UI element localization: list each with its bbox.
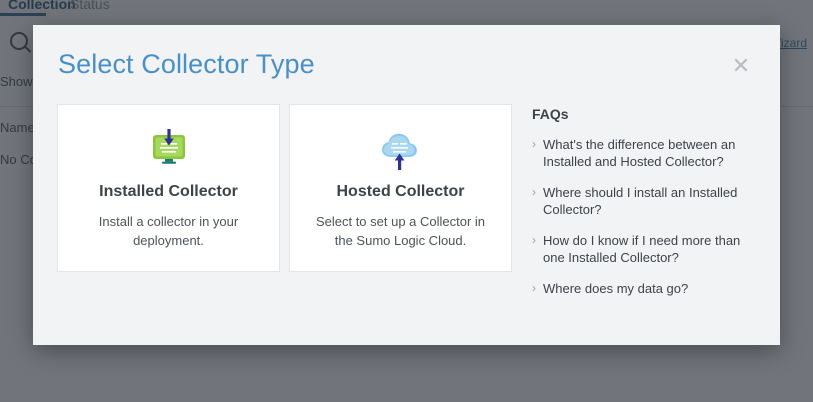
installed-collector-card[interactable]: Installed Collector Install a collector … [57, 104, 280, 272]
faq-panel: FAQs › What's the difference between an … [532, 104, 756, 311]
hosted-collector-description: Select to set up a Collector in the Sumo… [311, 212, 491, 250]
faq-item-label: How do I know if I need more than one In… [543, 232, 756, 266]
faq-item[interactable]: › What's the difference between an Insta… [532, 136, 756, 170]
close-icon[interactable]: ✕ [730, 55, 752, 77]
chevron-right-icon: › [532, 184, 536, 201]
faq-heading: FAQs [532, 106, 756, 122]
installed-collector-description: Install a collector in your deployment. [79, 212, 259, 250]
faq-item-label: Where does my data go? [543, 280, 688, 297]
chevron-right-icon: › [532, 280, 536, 297]
dialog-title: Select Collector Type [58, 49, 315, 80]
faq-item-label: What's the difference between an Install… [543, 136, 756, 170]
hosted-collector-title: Hosted Collector [336, 183, 464, 201]
hosted-collector-card[interactable]: Hosted Collector Select to set up a Coll… [289, 104, 512, 272]
dialog-body: Installed Collector Install a collector … [57, 104, 756, 311]
screen: Collection Status Search Show: Name No C… [0, 0, 813, 402]
installed-collector-title: Installed Collector [99, 183, 238, 201]
faq-item-label: Where should I install an Installed Coll… [543, 184, 756, 218]
faq-item[interactable]: › Where should I install an Installed Co… [532, 184, 756, 218]
monitor-download-icon [147, 127, 191, 173]
chevron-right-icon: › [532, 232, 536, 249]
chevron-right-icon: › [532, 136, 536, 153]
cloud-upload-icon [378, 127, 424, 173]
faq-item[interactable]: › How do I know if I need more than one … [532, 232, 756, 266]
select-collector-type-dialog: ✕ Select Collector Type [33, 25, 780, 345]
collector-type-cards: Installed Collector Install a collector … [57, 104, 512, 272]
faq-item[interactable]: › Where does my data go? [532, 280, 756, 297]
